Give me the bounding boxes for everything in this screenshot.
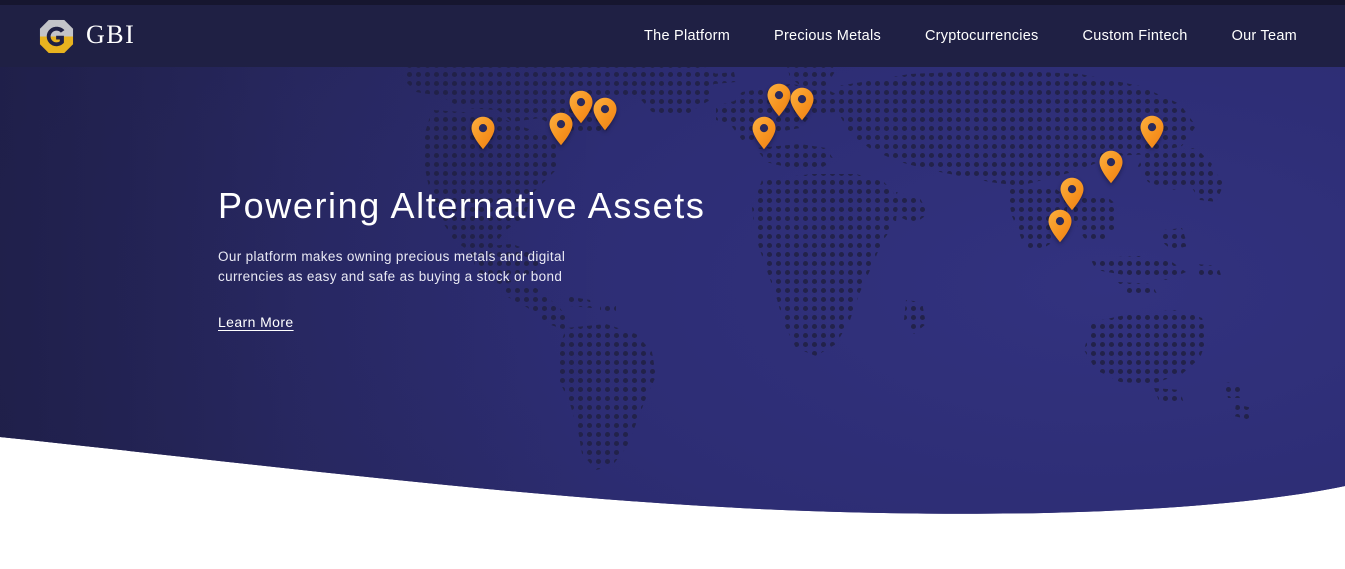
pin-europe-east-icon[interactable]	[789, 87, 815, 121]
nav-item-our-team[interactable]: Our Team	[1210, 28, 1319, 44]
gbi-octagon-logo-icon	[38, 18, 75, 55]
pin-east-asia-icon[interactable]	[1098, 150, 1124, 184]
brand-logo-link[interactable]: GBI	[38, 18, 135, 55]
nav-item-cryptocurrencies[interactable]: Cryptocurrencies	[903, 28, 1061, 44]
nav-item-custom-fintech[interactable]: Custom Fintech	[1061, 28, 1210, 44]
pin-north-america-west-icon[interactable]	[470, 116, 496, 150]
top-accent-strip	[0, 0, 1345, 5]
nav-item-precious-metals[interactable]: Precious Metals	[752, 28, 903, 44]
nav-item-the-platform[interactable]: The Platform	[622, 28, 752, 44]
pin-europe-west-icon[interactable]	[751, 116, 777, 150]
learn-more-link[interactable]: Learn More	[218, 314, 294, 330]
pin-north-atlantic-icon[interactable]	[568, 90, 594, 124]
page-root: GBI The Platform Precious Metals Cryptoc…	[0, 0, 1345, 569]
pin-middle-east-icon[interactable]	[1047, 209, 1073, 243]
page-title: Powering Alternative Assets	[218, 186, 858, 226]
pin-greenland-icon[interactable]	[592, 97, 618, 131]
brand-name: GBI	[86, 22, 135, 50]
primary-navigation: The Platform Precious Metals Cryptocurre…	[622, 28, 1319, 44]
pin-south-asia-icon[interactable]	[1059, 177, 1085, 211]
site-header: GBI The Platform Precious Metals Cryptoc…	[0, 5, 1345, 67]
hero-content: Powering Alternative Assets Our platform…	[218, 186, 858, 332]
hero-subtitle: Our platform makes owning precious metal…	[218, 247, 608, 288]
pin-far-east-icon[interactable]	[1139, 115, 1165, 149]
